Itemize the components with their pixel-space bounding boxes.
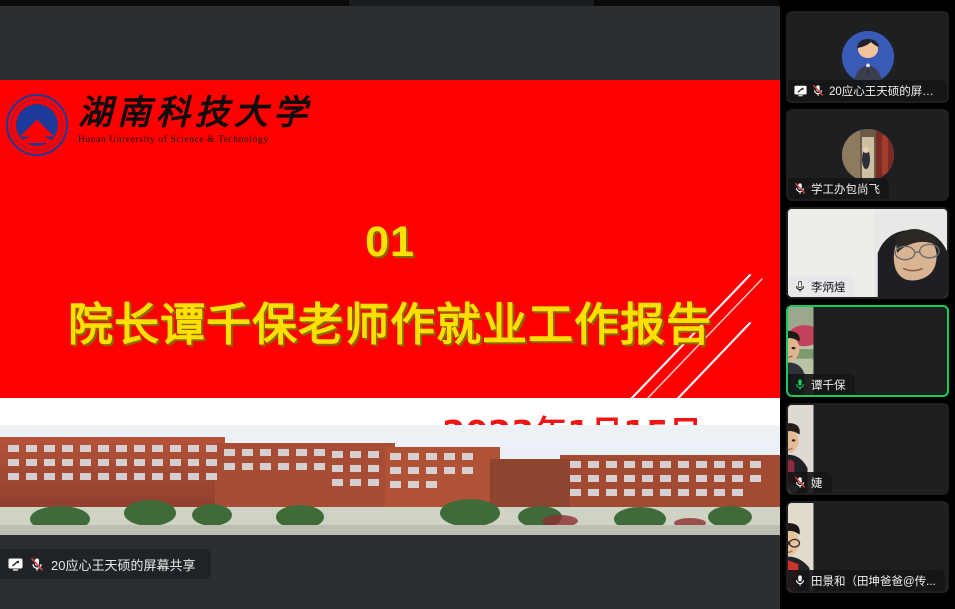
participant-name-pill: 学工办包尚飞	[788, 178, 889, 199]
screen-share-taskbar: 20应心王天硕的屏幕共享	[0, 549, 780, 579]
university-name-cn: 湖南科技大学	[78, 96, 312, 132]
mic-muted-icon	[794, 182, 806, 195]
mic-icon	[794, 280, 806, 293]
participant-name-pill: 20应心王天硕的屏幕...	[788, 80, 947, 101]
mic-muted-icon	[812, 84, 824, 97]
mic-icon	[794, 574, 806, 587]
university-wordmark: 湖南科技大学 Hunan University of Science & Tec…	[78, 94, 312, 145]
participant-tile[interactable]: 学工办包尚飞	[786, 109, 949, 201]
participant-name-pill: 田景和（田坤爸爸@传...	[788, 570, 945, 591]
university-logo: 湖南科技大学 Hunan University of Science & Tec…	[6, 94, 312, 156]
university-crest-icon	[6, 94, 68, 156]
participant-name-pill: 李炳煌	[788, 276, 855, 297]
mic-muted-icon	[30, 557, 44, 572]
participant-tile[interactable]: 田景和（田坤爸爸@传...	[786, 501, 949, 593]
participant-name: 田景和（田坤爸爸@传...	[811, 573, 936, 589]
participant-tile[interactable]: 婕	[786, 403, 949, 495]
share-indicator-label: 20应心王天硕的屏幕共享	[51, 555, 195, 574]
participant-name-pill: 谭千保	[788, 374, 855, 395]
screen-share-icon	[8, 558, 23, 571]
conference-window: 湖南科技大学 Hunan University of Science & Tec…	[0, 0, 955, 609]
avatar	[842, 129, 894, 181]
mic-icon	[794, 378, 806, 391]
participant-name: 20应心王天硕的屏幕...	[829, 83, 938, 99]
participant-name: 婕	[811, 475, 823, 491]
participant-filmstrip[interactable]: 20应心王天硕的屏幕...	[780, 0, 955, 609]
slide-footer-band: 2023年1月15日	[0, 398, 780, 535]
slide-title: 院长谭千保老师作就业工作报告	[0, 288, 780, 353]
participant-name: 学工办包尚飞	[811, 181, 880, 197]
avatar	[842, 31, 894, 83]
participant-name: 谭千保	[811, 377, 846, 393]
participant-tile-active-speaker[interactable]: 谭千保	[786, 305, 949, 397]
participant-name: 李炳煌	[811, 279, 846, 295]
screen-share-icon	[794, 85, 807, 97]
share-indicator-pill[interactable]: 20应心王天硕的屏幕共享	[0, 549, 211, 579]
participant-name-pill: 婕	[788, 472, 832, 493]
campus-building-photo	[0, 425, 780, 535]
presentation-slide: 湖南科技大学 Hunan University of Science & Tec…	[0, 80, 780, 535]
mic-muted-icon	[794, 476, 806, 489]
shared-screen-stage[interactable]: 湖南科技大学 Hunan University of Science & Tec…	[0, 6, 780, 579]
participant-tile[interactable]: 20应心王天硕的屏幕...	[786, 11, 949, 103]
participant-tile[interactable]: 李炳煌	[786, 207, 949, 299]
university-name-en: Hunan University of Science & Technology	[78, 135, 312, 145]
slide-section-number: 01	[0, 218, 780, 267]
